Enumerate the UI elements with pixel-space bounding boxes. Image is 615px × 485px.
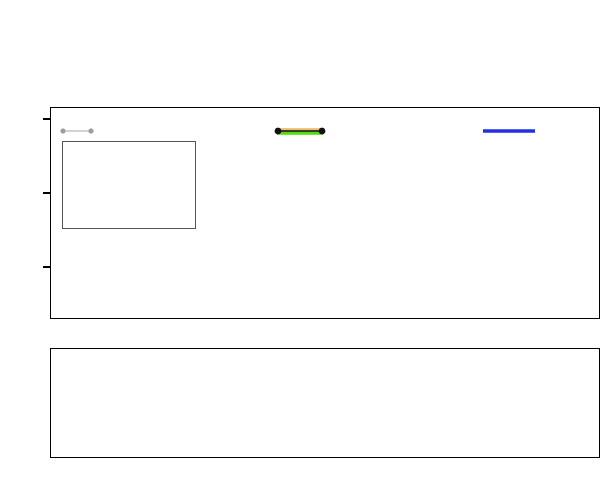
top-ytickmark-1 bbox=[43, 192, 50, 194]
chart-page bbox=[0, 0, 615, 485]
bottom-chart-panel bbox=[50, 348, 600, 458]
top-ytickmark-0 bbox=[43, 266, 50, 268]
crop-row-percent bbox=[69, 144, 189, 185]
legend-normal-swatch bbox=[480, 125, 538, 137]
top-ytickmark-2 bbox=[43, 118, 50, 120]
crop-row-amount bbox=[69, 185, 189, 226]
legend-average-swatch bbox=[272, 124, 328, 138]
bottom-chart-svg bbox=[51, 349, 599, 457]
crop-threshold-box bbox=[62, 141, 196, 229]
legend-members-swatch bbox=[58, 125, 96, 137]
